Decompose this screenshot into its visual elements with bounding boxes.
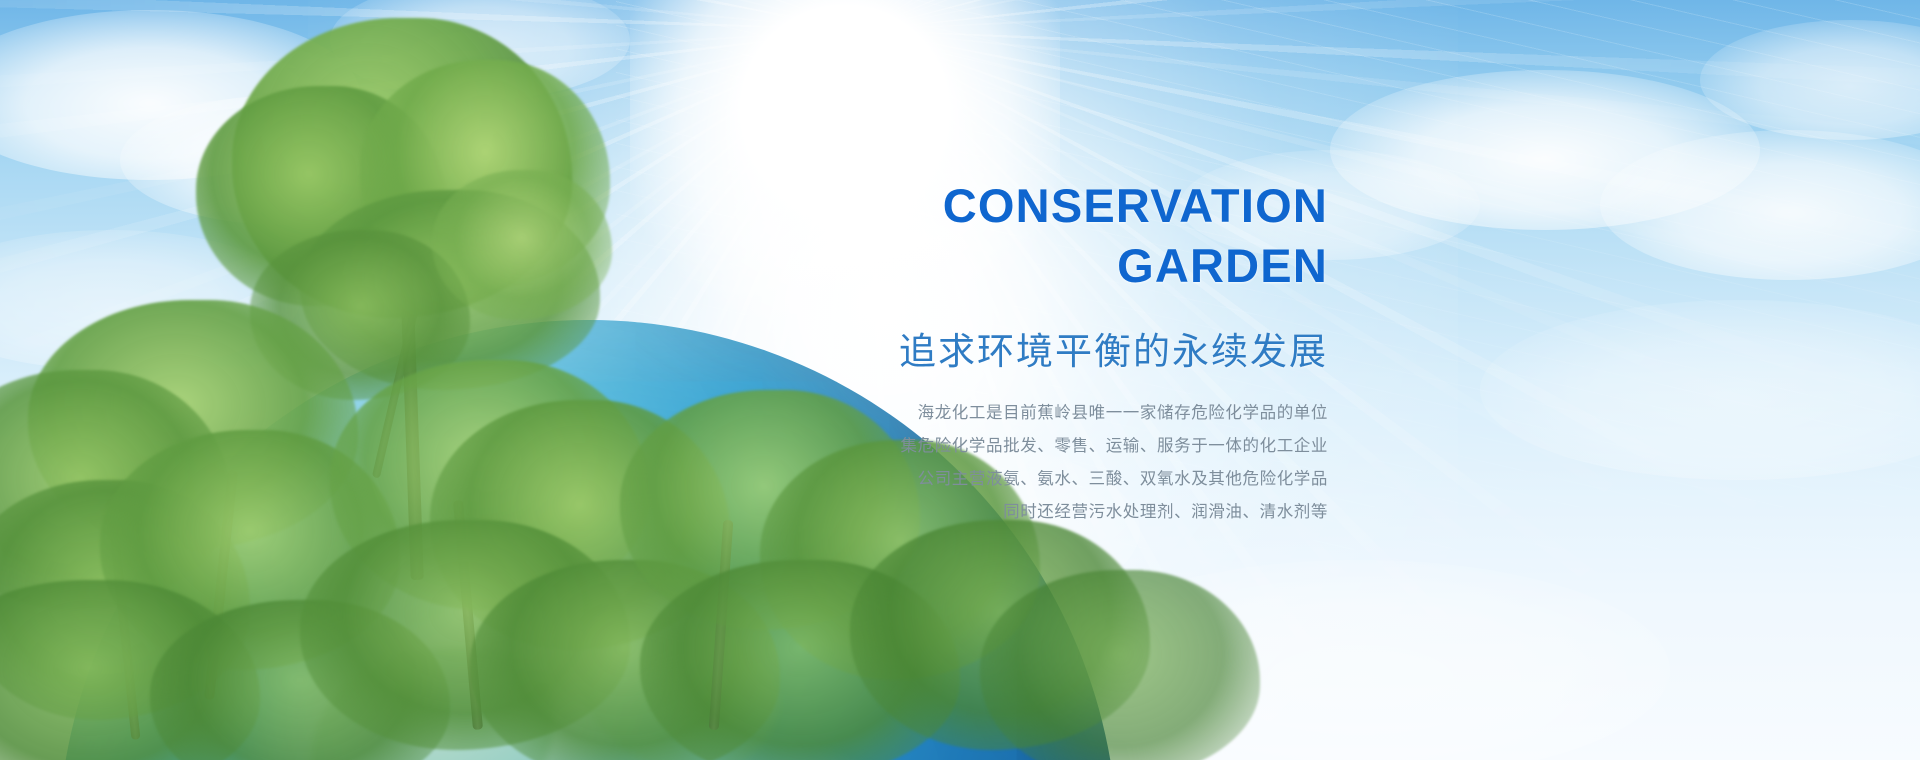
description-line: 公司主营液氨、氨水、三酸、双氧水及其他危险化学品 — [768, 463, 1328, 496]
description-line: 海龙化工是目前蕉岭县唯一一家储存危险化学品的单位 — [768, 397, 1328, 430]
banner-subtitle: 追求环境平衡的永续发展 — [768, 330, 1328, 374]
page-title: CONSERVATION GARDEN — [768, 176, 1328, 296]
headline-line-1: CONSERVATION — [943, 179, 1328, 232]
hero-banner: CONSERVATION GARDEN 追求环境平衡的永续发展 海龙化工是目前蕉… — [0, 0, 1920, 760]
description-line: 同时还经营污水处理剂、润滑油、清水剂等 — [768, 496, 1328, 529]
banner-text-block: CONSERVATION GARDEN 追求环境平衡的永续发展 海龙化工是目前蕉… — [768, 176, 1328, 529]
headline-line-2: GARDEN — [768, 236, 1328, 296]
description-line: 集危险化学品批发、零售、运输、服务于一体的化工企业 — [768, 430, 1328, 463]
banner-description: 海龙化工是目前蕉岭县唯一一家储存危险化学品的单位 集危险化学品批发、零售、运输、… — [768, 397, 1328, 529]
